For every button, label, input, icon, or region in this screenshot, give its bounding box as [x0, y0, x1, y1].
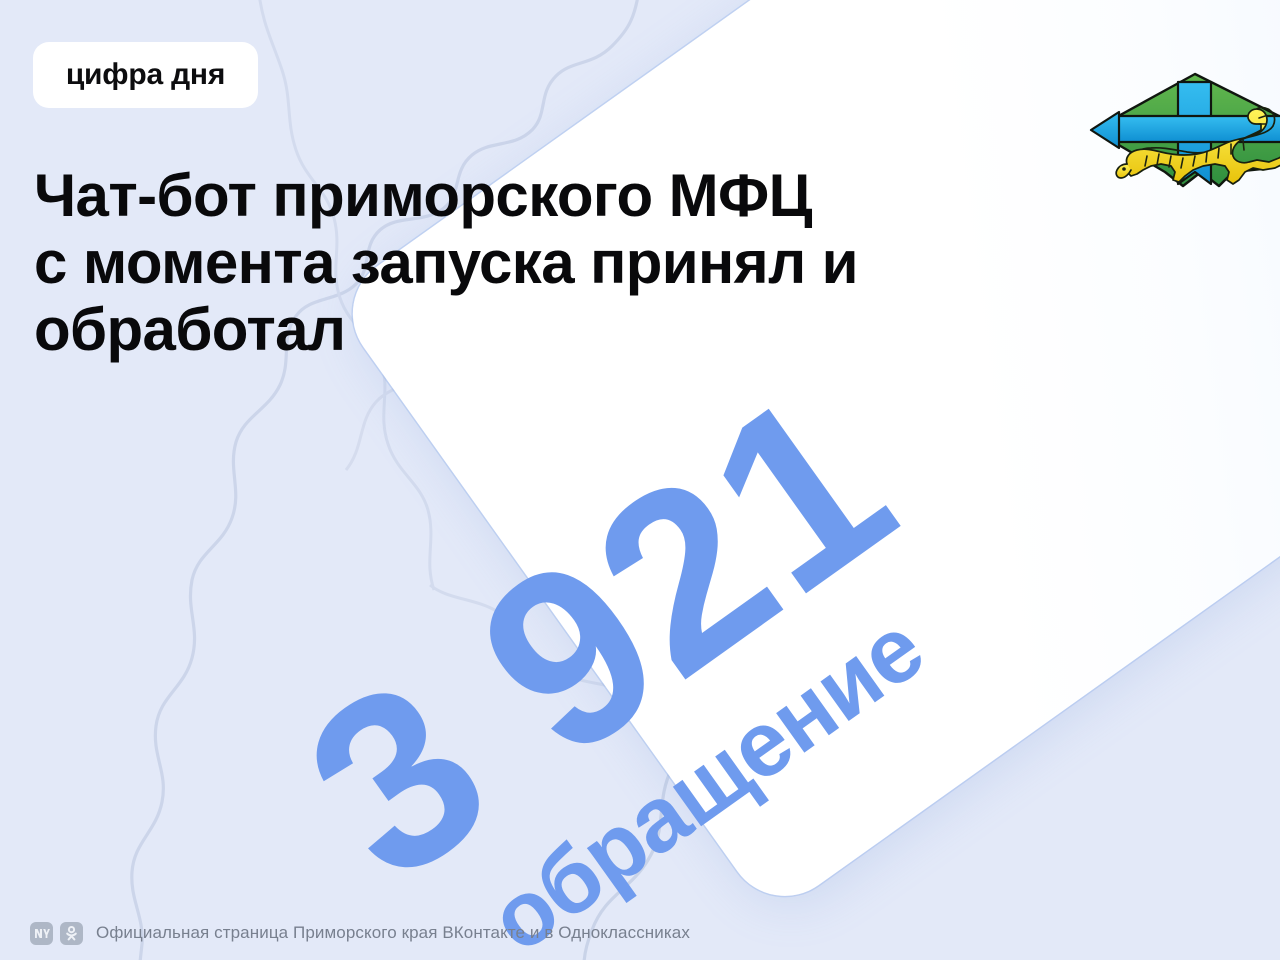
ok-icon[interactable]: [60, 922, 83, 945]
headline-line-3: обработал: [34, 296, 1014, 363]
headline-line-2: с момента запуска принял и: [34, 229, 1014, 296]
vk-icon[interactable]: [30, 922, 53, 945]
figure-unit: обращение: [475, 601, 938, 960]
footer: Официальная страница Приморского края ВК…: [30, 918, 690, 948]
page-title: Чат-бот приморского МФЦ с момента запуск…: [34, 162, 1014, 364]
footer-text: Официальная страница Приморского края ВК…: [96, 923, 690, 943]
headline-line-1: Чат-бот приморского МФЦ: [34, 162, 1014, 229]
badge-label: цифра дня: [66, 58, 225, 92]
figure-number: 3 921: [268, 349, 931, 922]
poster-canvas: 3 921 обращение цифра дня Чат-бот примор…: [0, 0, 1280, 960]
figure-of-the-day-badge: цифра дня: [33, 42, 258, 108]
primorsky-krai-coat-of-arms-icon: [1083, 68, 1280, 218]
